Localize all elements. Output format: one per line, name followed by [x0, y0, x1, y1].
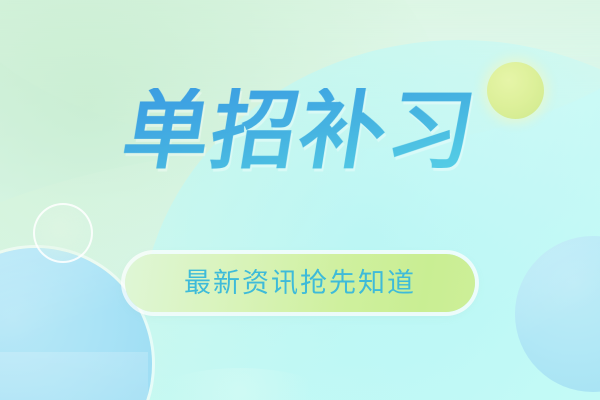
subtitle-text: 最新资讯抢先知道 [184, 270, 416, 297]
banner-content: 单招补习 最新资讯抢先知道 [0, 0, 600, 400]
banner-headline: 单招补习 [0, 88, 600, 174]
promo-banner: 单招补习 最新资讯抢先知道 [0, 0, 600, 400]
subtitle-pill: 最新资讯抢先知道 [125, 254, 475, 312]
